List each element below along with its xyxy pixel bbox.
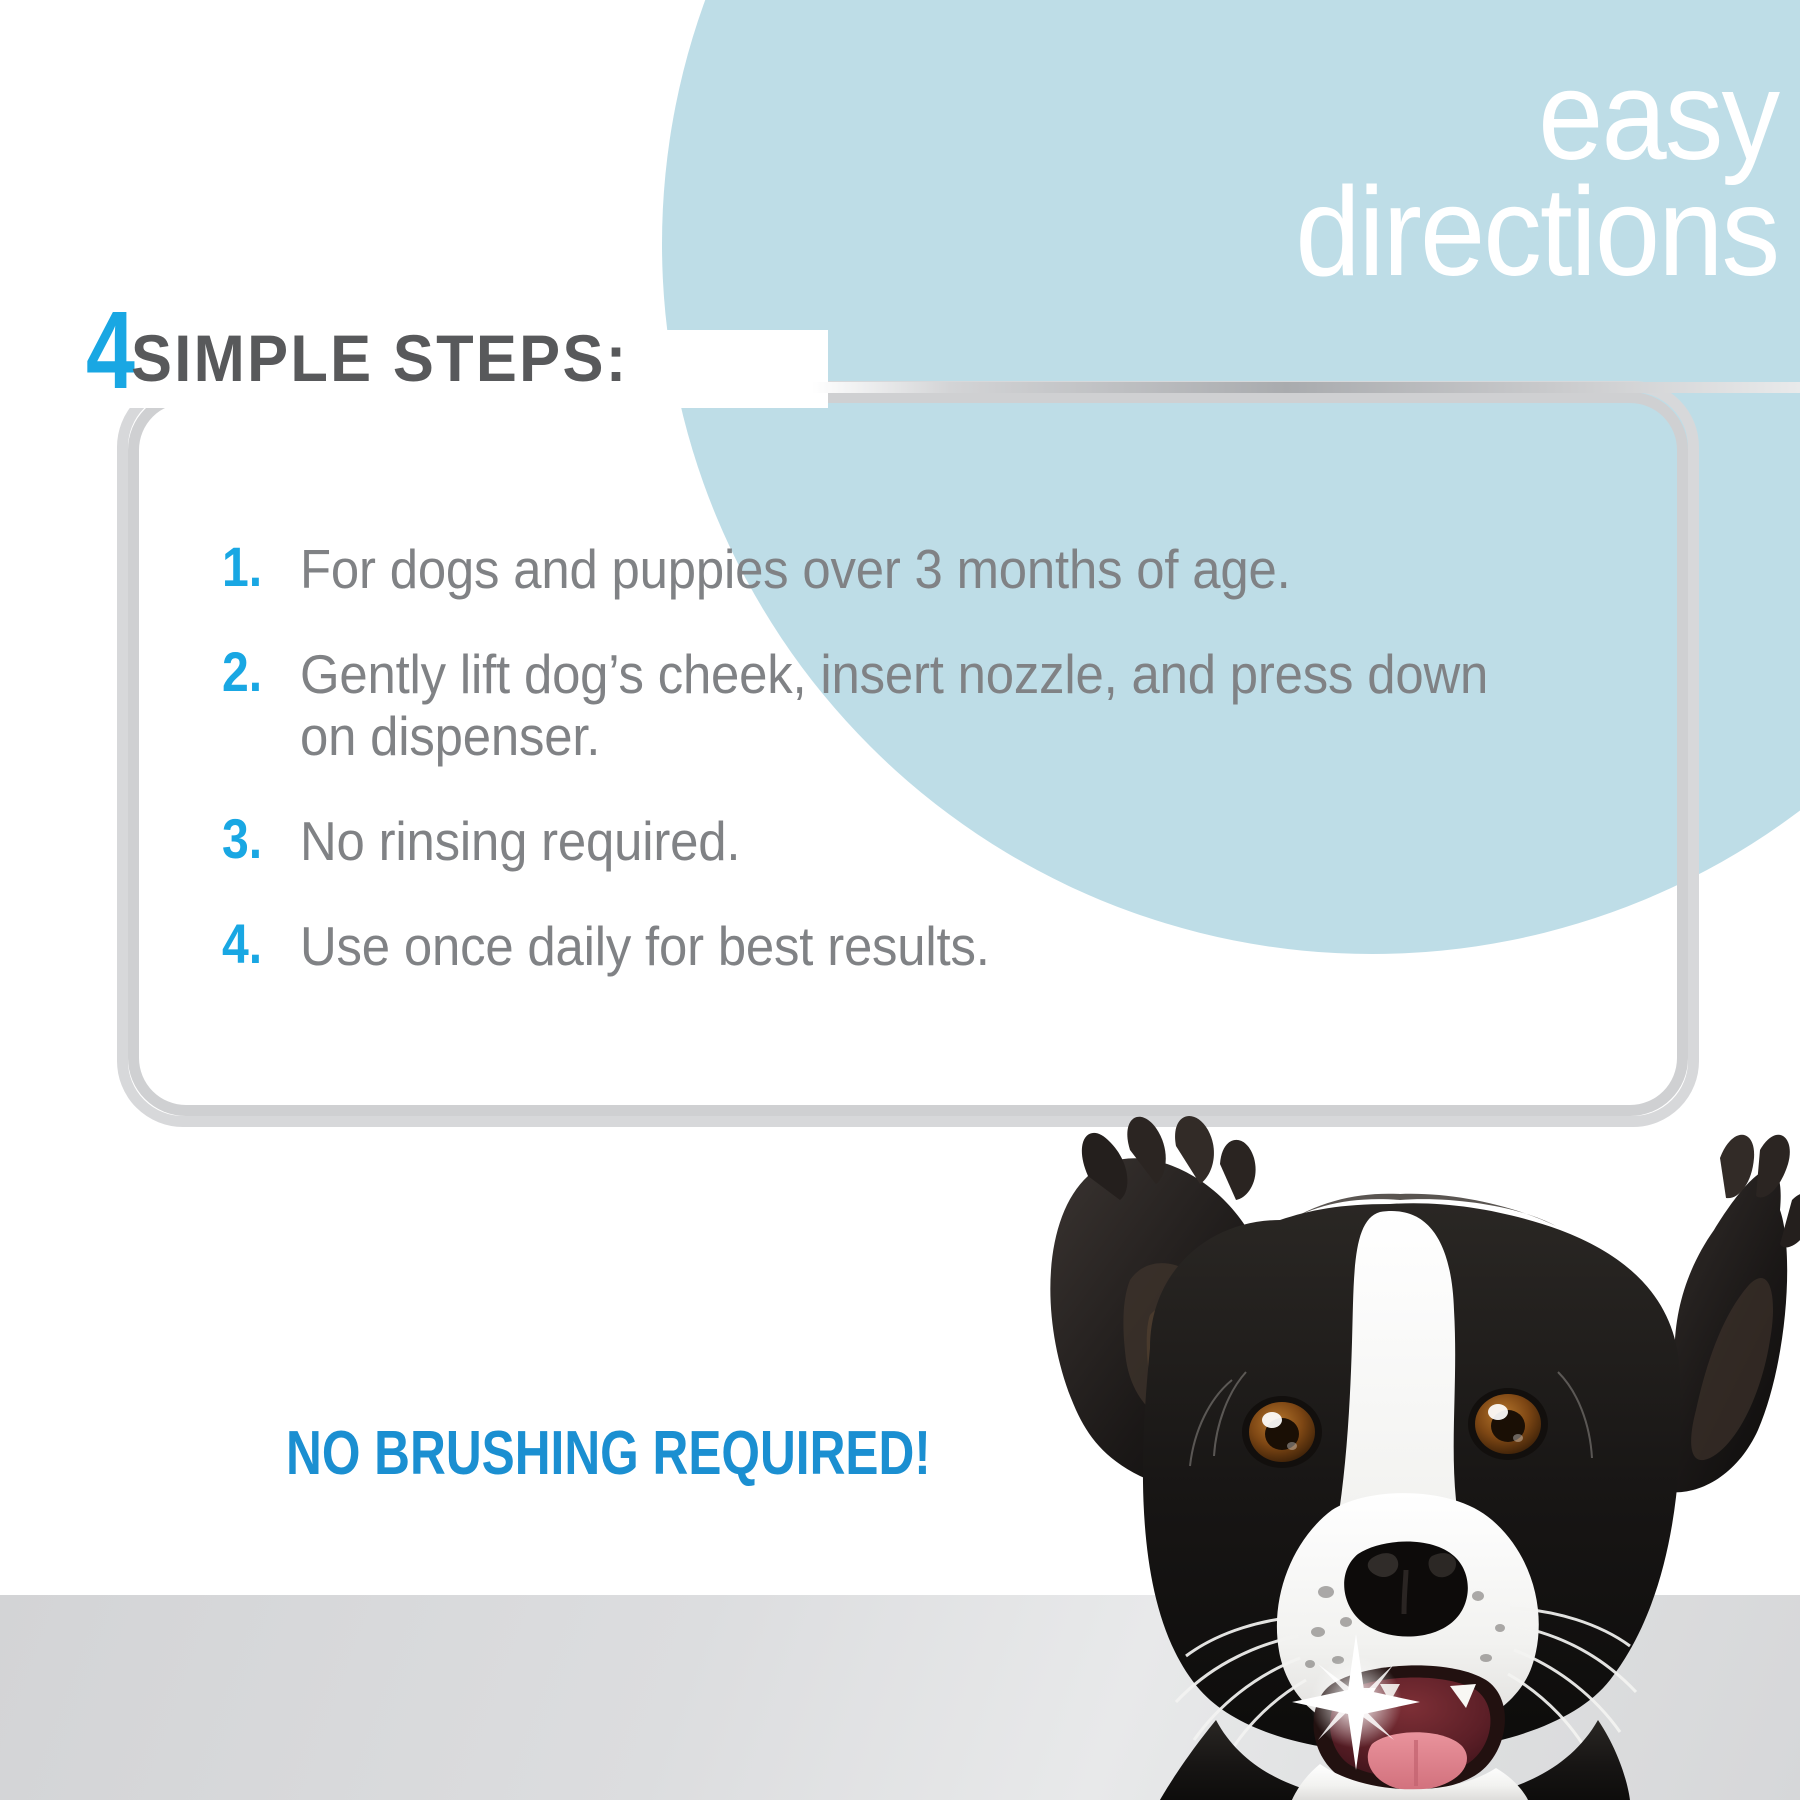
steps-heading: 4 SIMPLE STEPS: (86, 306, 666, 396)
step-text: Gently lift dog’s cheek, insert nozzle, … (300, 643, 1541, 768)
dog-nose (1344, 1542, 1468, 1637)
steps-heading-label: SIMPLE STEPS: (131, 325, 628, 396)
list-item: 3. No rinsing required. (222, 810, 1642, 873)
dog-head (1143, 1194, 1681, 1792)
step-number: 4. (222, 915, 289, 972)
step-text: Use once daily for best results. (300, 915, 1541, 978)
step-number: 1. (222, 538, 289, 595)
steps-heading-number: 4 (86, 306, 133, 396)
directions-panel: easy directions 4 SIMPLE STEPS: 1. For d… (0, 0, 1800, 1800)
dog-photo (980, 1080, 1800, 1800)
title-line-directions: directions (1295, 174, 1778, 290)
step-number: 3. (222, 810, 289, 867)
step-text: No rinsing required. (300, 810, 1541, 873)
list-item: 4. Use once daily for best results. (222, 915, 1642, 978)
step-number: 2. (222, 643, 289, 700)
step-text: For dogs and puppies over 3 months of ag… (300, 538, 1541, 601)
page-title: easy directions (1259, 58, 1778, 290)
steps-list: 1. For dogs and puppies over 3 months of… (222, 538, 1642, 977)
dog-right-eye (1468, 1388, 1548, 1460)
title-line-easy: easy (1295, 58, 1778, 174)
frame-top-rule (812, 382, 1800, 393)
dog-left-eye (1242, 1396, 1322, 1468)
tagline: NO BRUSHING REQUIRED! (286, 1418, 931, 1489)
list-item: 2. Gently lift dog’s cheek, insert nozzl… (222, 643, 1642, 768)
list-item: 1. For dogs and puppies over 3 months of… (222, 538, 1642, 601)
